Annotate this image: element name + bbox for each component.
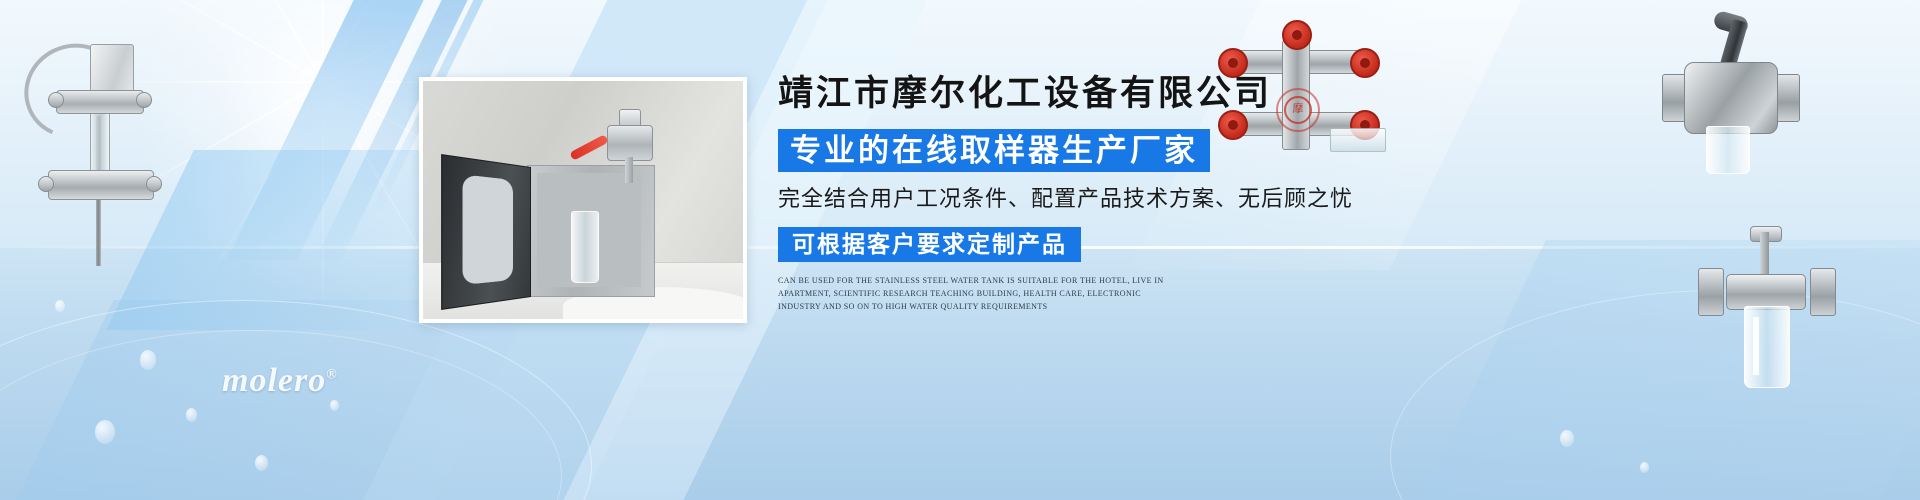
valve-knob-icon: [136, 92, 152, 108]
water-droplet-icon: [186, 408, 197, 422]
top-right-valve-illustration: [1662, 22, 1804, 178]
cabinet-door: [441, 154, 531, 310]
valve-body-icon: [1684, 62, 1778, 134]
water-droplet-icon: [55, 300, 65, 312]
valve-body-icon: [1726, 274, 1806, 310]
water-droplet-icon: [1560, 430, 1574, 447]
sampler-valve-assembly: [591, 109, 665, 169]
glass-cylinder-icon: [90, 104, 110, 178]
sample-bottle: [571, 211, 599, 283]
valve-stem-icon: [625, 157, 633, 183]
water-droplet-icon: [1640, 462, 1649, 473]
flange-right-icon: [1810, 268, 1836, 316]
company-name: 靖江市摩尔化工设备有限公司: [778, 72, 1418, 116]
product-photo: [419, 77, 747, 323]
water-droplet-icon: [140, 350, 156, 370]
red-handwheel-icon: [1282, 20, 1312, 50]
valve-cross-lower-icon: [48, 170, 154, 200]
water-droplet-icon: [255, 455, 268, 471]
valve-cross-upper-icon: [56, 90, 144, 114]
custom-product-badge: 可根据客户要求定制产品: [778, 227, 1081, 262]
water-droplet-icon: [330, 400, 339, 411]
banner-copy: 靖江市摩尔化工设备有限公司 专业的在线取样器生产厂家 完全结合用户工况条件、配置…: [778, 72, 1418, 313]
left-machine-illustration: [8, 20, 183, 265]
slogan-badge: 专业的在线取样器生产厂家: [778, 129, 1210, 172]
valve-knob-icon: [48, 92, 64, 108]
bottom-right-valve-illustration: [1692, 232, 1842, 402]
glass-sample-tube-icon: [1744, 306, 1790, 388]
sample-bottle-icon: [1706, 126, 1750, 174]
watermark-text: molero: [222, 362, 326, 399]
valve-body-icon: [607, 125, 653, 161]
promo-banner: 摩 靖江市摩尔化工设备有限公司 专业的在线取样器生产厂家 完全结合用户工况条件、…: [0, 0, 1920, 500]
registered-mark-icon: ®: [326, 368, 337, 383]
valve-knob-icon: [38, 176, 54, 192]
water-droplet-icon: [95, 420, 115, 444]
fineprint-text: CAN BE USED FOR THE STAINLESS STEEL WATE…: [778, 274, 1182, 313]
watermark-logo: molero®: [222, 362, 338, 400]
valve-rod-icon: [1760, 232, 1769, 278]
valve-knob-icon: [146, 176, 162, 192]
flange-left-icon: [1698, 268, 1724, 316]
description-text: 完全结合用户工况条件、配置产品技术方案、无后顾之忧: [778, 184, 1418, 214]
